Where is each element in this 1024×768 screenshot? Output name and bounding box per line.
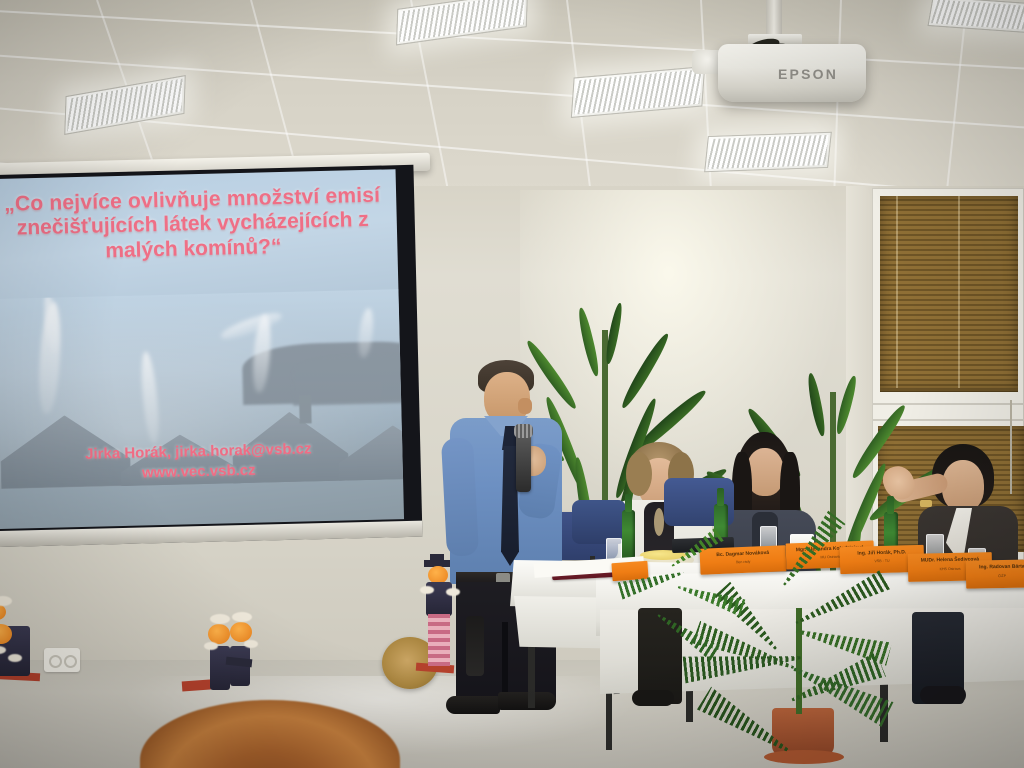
projector-brand-label: EPSON [778, 66, 838, 82]
dark-object-right [466, 616, 484, 676]
venetian-blind-lower-panel [880, 388, 1018, 392]
photograph-conference-room: EPSON „Co nejvíce ovlivňuje množství emi… [0, 0, 1024, 768]
shoe [632, 690, 674, 706]
ceiling-projector: EPSON [718, 44, 866, 102]
shoe [498, 692, 556, 710]
small-palm-on-table [618, 558, 748, 644]
projected-slide: „Co nejvíce ovlivňuje množství emisí zne… [0, 169, 404, 529]
microphone-head [514, 424, 533, 438]
autumn-scarecrow-decoration-left [0, 590, 42, 686]
name-placard: Ing. Radovan Bárta ČIŽP [966, 559, 1024, 588]
ceiling-light-fixture [704, 132, 832, 172]
shoe [446, 696, 500, 714]
shoe [920, 686, 966, 704]
venetian-blind-upper [880, 196, 1018, 392]
placard-subtitle: ČIŽP [966, 574, 1024, 579]
microphone[interactable] [516, 430, 531, 492]
face [942, 460, 984, 512]
projection-screen: „Co nejvíce ovlivňuje množství emisí zne… [0, 165, 422, 547]
autumn-scarecrow-decoration-right [418, 558, 462, 674]
pot-saucer [764, 750, 844, 764]
slide-title: „Co nejvíce ovlivňuje množství emisí zne… [0, 183, 398, 266]
placard-name: Ing. Radovan Bárta [966, 564, 1024, 571]
power-socket-double[interactable] [44, 648, 80, 672]
autumn-scarecrow-decoration-center [196, 608, 276, 700]
water-bottle[interactable] [622, 510, 635, 562]
